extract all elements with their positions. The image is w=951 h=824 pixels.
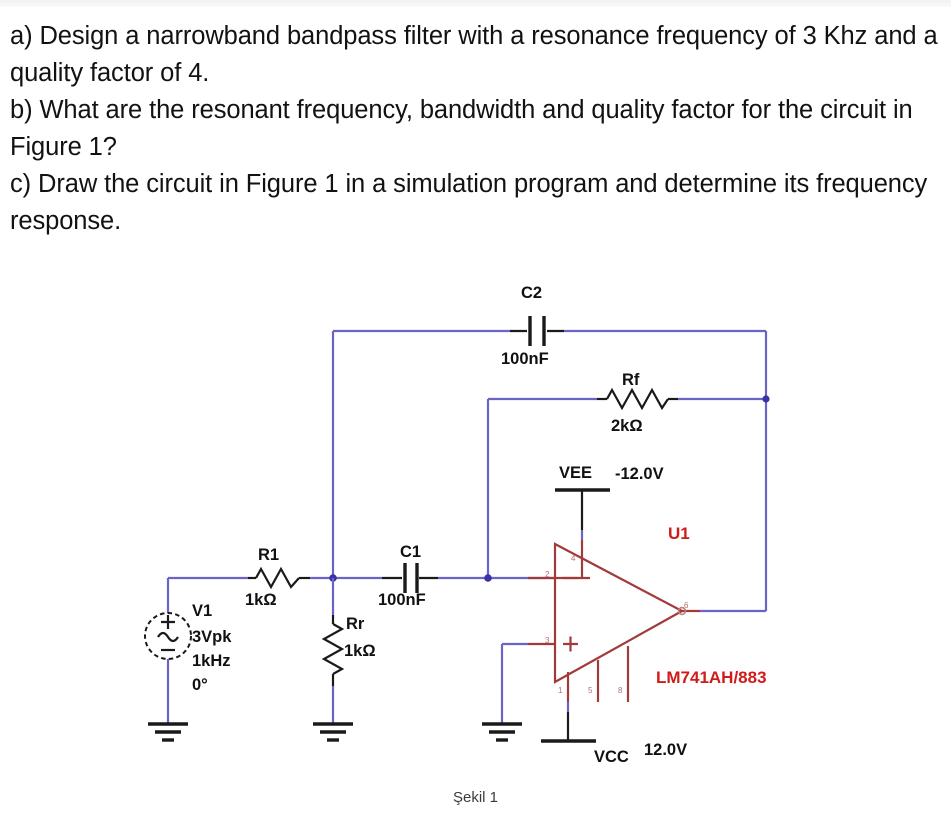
label-vcc-value: 12.0V xyxy=(644,742,687,759)
label-r1-ref: R1 xyxy=(258,547,279,564)
pin-label-nc2: 5 xyxy=(588,687,592,695)
wire-noninverting-ground xyxy=(502,644,528,724)
pin-label-output: 6 xyxy=(684,602,688,610)
label-vee-ref: VEE xyxy=(559,465,592,482)
label-c2-ref: C2 xyxy=(521,285,542,302)
pin-label-nc1: 1 xyxy=(558,687,562,695)
figure-caption: Şekil 1 xyxy=(0,789,951,806)
wire-input-path xyxy=(168,569,590,587)
label-rf-ref: Rf xyxy=(622,372,639,389)
ground-symbol-noninverting xyxy=(482,724,522,740)
label-rf-value: 2kΩ xyxy=(611,418,643,435)
browser-chrome-strip xyxy=(0,0,951,7)
junction-dot-inverting-node xyxy=(484,574,492,582)
label-v1-amplitude: 3Vpk xyxy=(192,629,231,646)
pin-label-nc3: 8 xyxy=(618,687,622,695)
capacitor-c1-symbol xyxy=(405,563,417,593)
supply-vcc-symbol xyxy=(541,712,596,741)
label-c2-value: 100nF xyxy=(501,351,549,368)
ground-symbol-v1 xyxy=(148,724,188,740)
label-u1-part: LM741AH/883 xyxy=(656,669,767,686)
label-u1-ref: U1 xyxy=(668,525,690,542)
wire-rf-branch xyxy=(488,390,766,408)
question-text: a) Design a narrowband bandpass filter w… xyxy=(10,18,945,240)
pin-label-inverting: 2 xyxy=(545,571,549,579)
label-rr-value: 1kΩ xyxy=(344,643,376,660)
resistor-rr-symbol xyxy=(324,578,342,724)
label-c1-ref: C1 xyxy=(400,544,421,561)
capacitor-c2-symbol xyxy=(530,316,544,346)
label-v1-frequency: 1kHz xyxy=(192,653,231,670)
label-r1-value: 1kΩ xyxy=(245,592,277,609)
junction-dot-rf-output xyxy=(762,395,769,402)
label-v1-phase: 0° xyxy=(192,677,208,694)
label-rr-ref: Rr xyxy=(346,616,364,633)
supply-vee-symbol xyxy=(555,490,610,530)
pin-label-vee: 4 xyxy=(571,555,575,563)
label-vcc-ref: VCC xyxy=(594,749,629,766)
ac-source-v1-symbol xyxy=(145,613,191,659)
circuit-schematic-svg: .w{stroke:#6a63c8;stroke-width:2.2;fill:… xyxy=(0,272,951,819)
ground-symbol-rr xyxy=(313,724,353,740)
pin-label-noninverting: 3 xyxy=(545,637,549,645)
circuit-diagram-figure: .w{stroke:#6a63c8;stroke-width:2.2;fill:… xyxy=(0,272,951,819)
label-vee-value: -12.0V xyxy=(615,466,664,483)
label-v1-ref: V1 xyxy=(192,603,212,620)
label-c1-value: 100nF xyxy=(378,592,426,609)
